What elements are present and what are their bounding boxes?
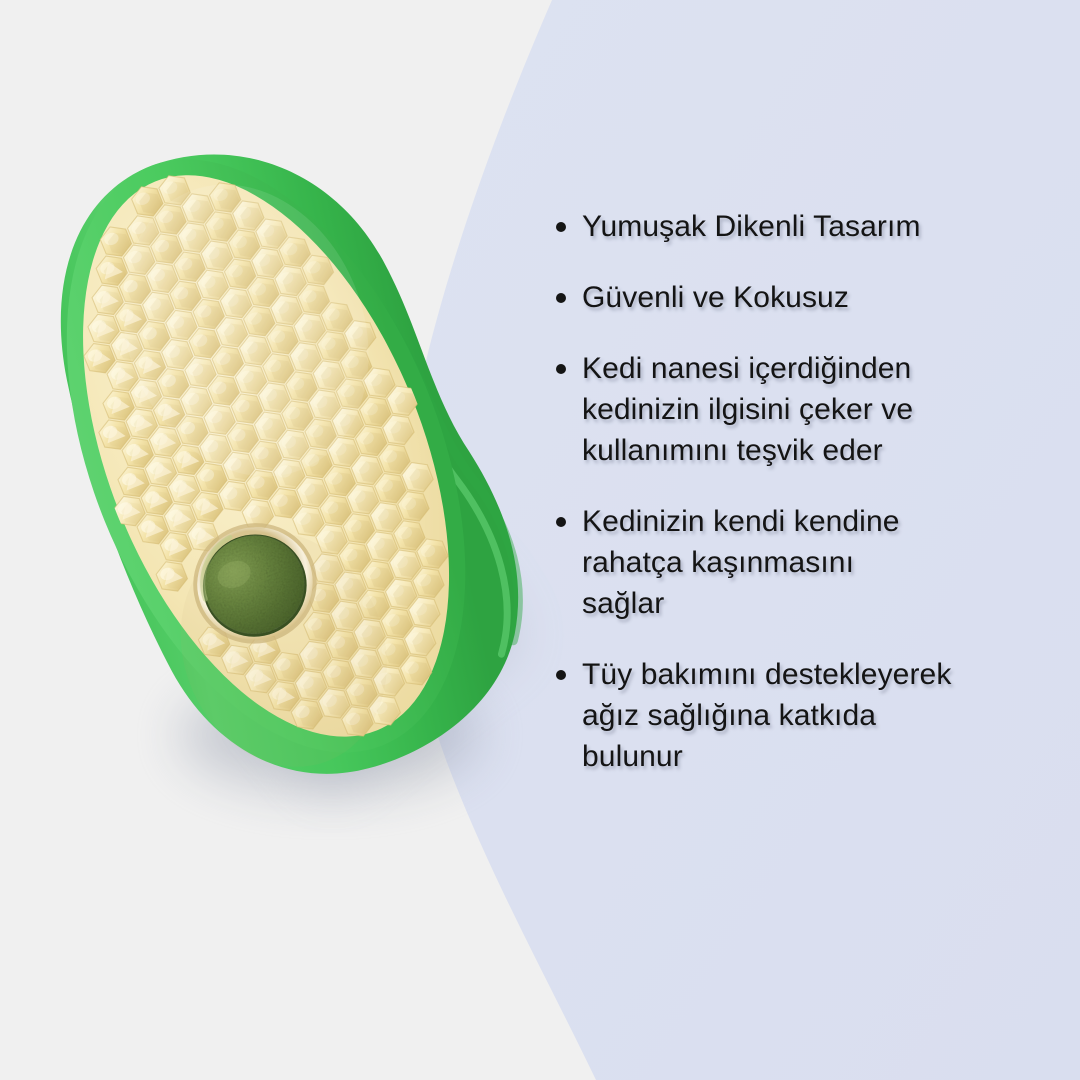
feature-text: Kedi nanesi içerdiğinden kedinizin ilgis… xyxy=(582,348,1056,471)
bullet-icon xyxy=(556,517,566,527)
feature-text: Yumuşak Dikenli Tasarım xyxy=(582,206,1056,247)
bullet-icon xyxy=(556,293,566,303)
list-item: Kedinizin kendi kendine rahatça kaşınmas… xyxy=(556,501,1056,624)
bullet-icon xyxy=(556,364,566,374)
feature-text: Güvenli ve Kokusuz xyxy=(582,277,1056,318)
list-item: Yumuşak Dikenli Tasarım xyxy=(556,206,1056,247)
bullet-icon xyxy=(556,670,566,680)
list-item: Güvenli ve Kokusuz xyxy=(556,277,1056,318)
feature-text: Kedinizin kendi kendine rahatça kaşınmas… xyxy=(582,501,1056,624)
feature-text: Tüy bakımını destekleyerek ağız sağlığın… xyxy=(582,654,1056,777)
product-marketing-image: Yumuşak Dikenli Tasarım Güvenli ve Kokus… xyxy=(0,0,1080,1080)
list-item: Kedi nanesi içerdiğinden kedinizin ilgis… xyxy=(556,348,1056,471)
list-item: Tüy bakımını destekleyerek ağız sağlığın… xyxy=(556,654,1056,777)
feature-list: Yumuşak Dikenli Tasarım Güvenli ve Kokus… xyxy=(556,206,1056,777)
bullet-icon xyxy=(556,222,566,232)
